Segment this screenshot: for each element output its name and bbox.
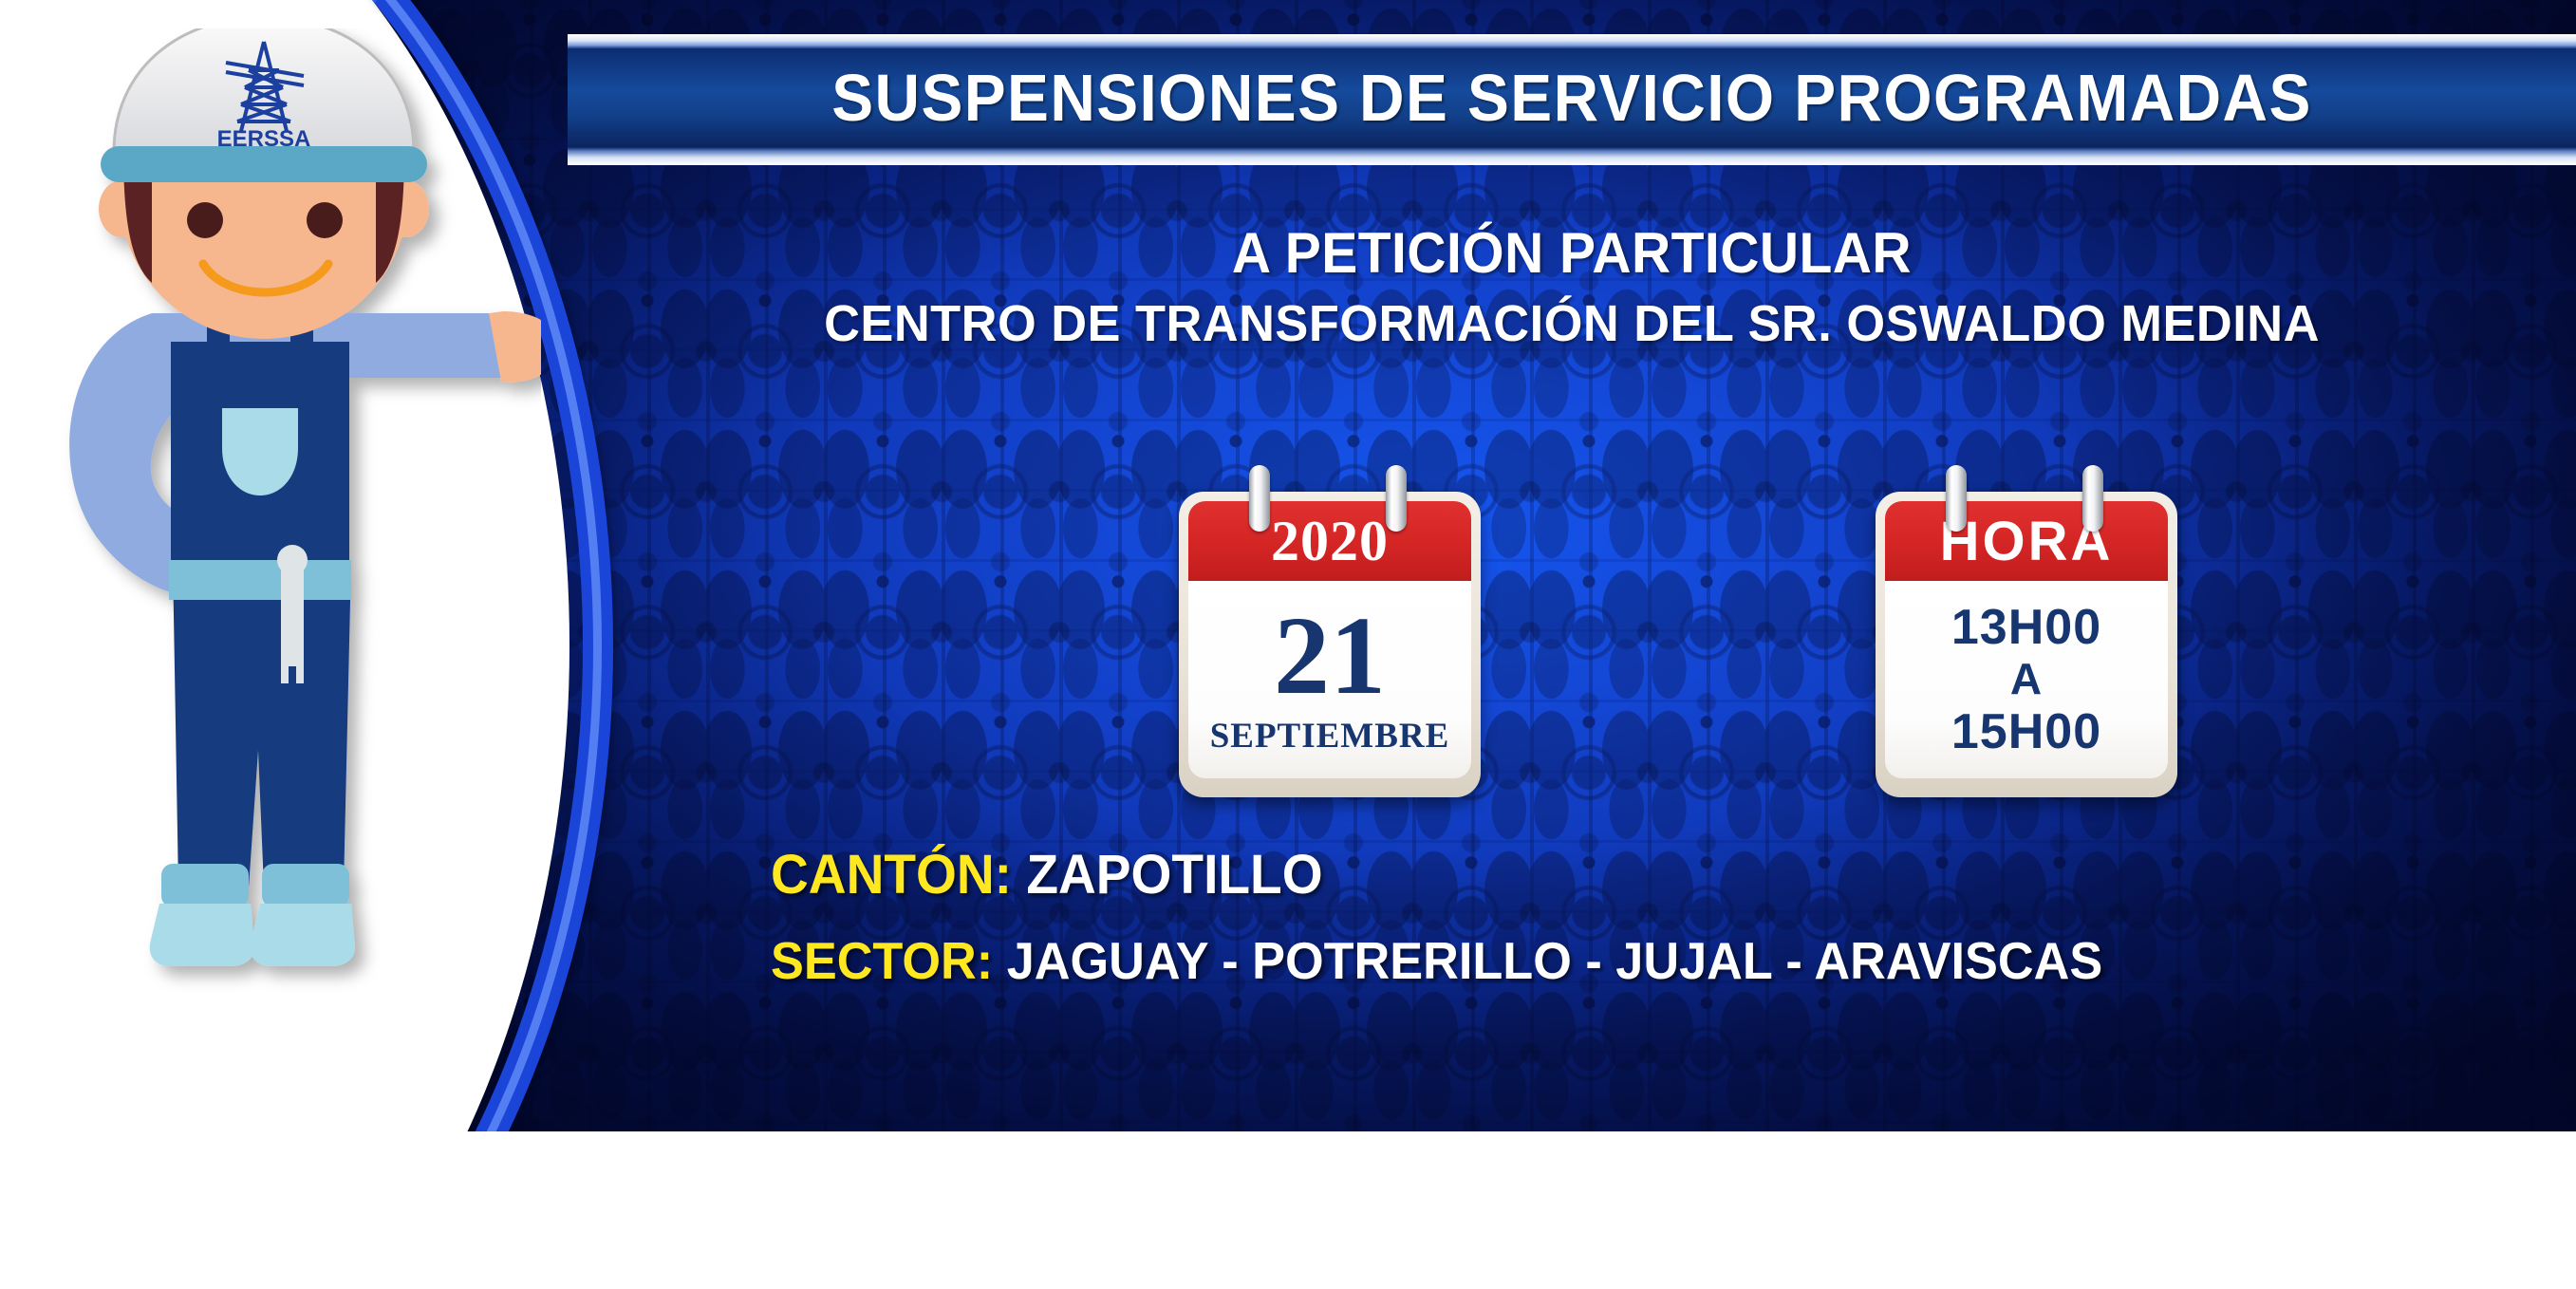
wrench-icon <box>277 545 308 683</box>
mascot-illustration: EERSSA <box>9 28 541 1101</box>
calendar-ring-right <box>1386 465 1407 532</box>
page-title: SUSPENSIONES DE SERVICIO PROGRAMADAS <box>627 48 2515 147</box>
mascot-belt <box>169 560 351 600</box>
date-calendar-day: 21 <box>1274 603 1386 709</box>
canton-label: CANTÓN: <box>771 844 1012 906</box>
banner-top-stripe <box>568 34 2576 48</box>
calendar-ring-left <box>1249 465 1270 532</box>
mascot-boot-left-cuff <box>161 864 249 907</box>
mascot-pocket <box>222 408 298 495</box>
date-calendar-body: 21 SEPTIEMBRE <box>1188 581 1471 778</box>
banner-bottom-stripe <box>568 147 2576 165</box>
canton-value: ZAPOTILLO <box>1026 844 1322 906</box>
calendar-ring-left <box>1946 465 1967 532</box>
mascot-boot-left <box>150 904 254 966</box>
mascot-legs <box>173 560 351 887</box>
calendar-rings <box>1876 465 2177 524</box>
mascot-eye-left <box>187 202 223 238</box>
sector-label: SECTOR: <box>771 931 993 990</box>
date-calendar-month: SEPTIEMBRE <box>1210 716 1450 757</box>
time-calendar-body: 13H00 A 15H00 <box>1885 581 2168 778</box>
subtitle-line-2: CENTRO DE TRANSFORMACIÓN DEL SR. OSWALDO… <box>598 294 2547 353</box>
subtitle-line-1: A PETICIÓN PARTICULAR <box>618 220 2526 286</box>
helmet-logo-text: EERSSA <box>217 126 311 152</box>
footer-swoosh-mask <box>0 1131 2576 1289</box>
title-banner: SUSPENSIONES DE SERVICIO PROGRAMADAS <box>568 34 2576 165</box>
mascot-eye-right <box>307 202 343 238</box>
time-end: 15H00 <box>1951 704 2101 759</box>
date-calendar-card: 2020 21 SEPTIEMBRE <box>1179 465 1481 799</box>
calendar-ring-right <box>2082 465 2103 532</box>
calendar-rings <box>1179 465 1481 524</box>
time-calendar-card: HORA 13H00 A 15H00 <box>1876 465 2177 799</box>
canton-row: CANTÓN: ZAPOTILLO <box>771 843 1323 906</box>
poster-root: EERSSA SUSPENSIONES DE SERVICIO PROGRAMA… <box>0 0 2576 1289</box>
mascot-boot-right <box>251 904 355 966</box>
sector-row: SECTOR: JAGUAY - POTRERILLO - JUJAL - AR… <box>771 930 2102 991</box>
time-separator: A <box>2010 655 2043 704</box>
mascot-boot-right-cuff <box>262 864 349 907</box>
time-start: 13H00 <box>1951 600 2101 655</box>
sector-value: JAGUAY - POTRERILLO - JUJAL - ARAVISCAS <box>1007 931 2103 990</box>
